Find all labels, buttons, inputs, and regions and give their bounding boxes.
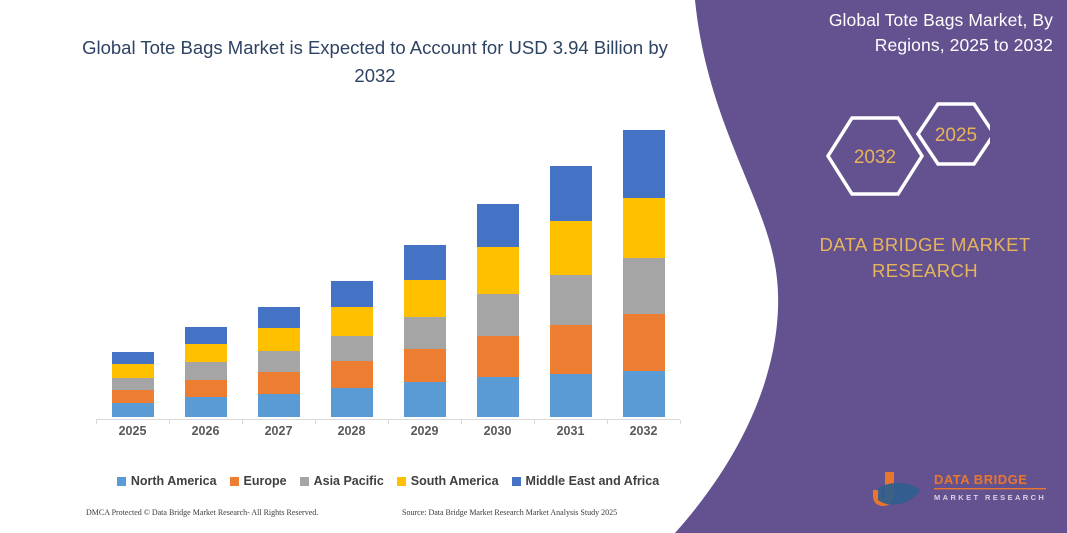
bar-segment [550, 275, 592, 325]
x-axis-labels: 20252026202720282029203020312032 [96, 424, 680, 444]
bar-segment [477, 294, 519, 336]
logo-text-top: DATA BRIDGE [934, 472, 1027, 487]
bar-segment [477, 336, 519, 377]
bar-2028 [331, 281, 373, 417]
bar-segment [477, 204, 519, 247]
legend-item-europe[interactable]: Europe [230, 474, 287, 488]
bar-segment [404, 382, 446, 417]
x-axis-label-2030: 2030 [468, 424, 528, 438]
hexagon-2025-label: 2025 [935, 125, 977, 146]
bar-segment [185, 362, 227, 380]
bar-segment [550, 374, 592, 417]
brand-line-2: RESEARCH [790, 258, 1060, 284]
data-bridge-logo: DATA BRIDGE MARKET RESEARCH [872, 466, 1052, 510]
logo-mark-blue [878, 483, 920, 505]
bar-segment [258, 351, 300, 372]
legend-label: Asia Pacific [314, 474, 384, 488]
bar-2029 [404, 245, 446, 417]
bar-segment [258, 394, 300, 417]
hexagon-badges: 2025 2032 [820, 98, 990, 208]
bar-segment [331, 281, 373, 307]
bar-segment [258, 307, 300, 328]
bar-2031 [550, 166, 592, 417]
bar-segment [404, 317, 446, 349]
bar-2030 [477, 204, 519, 417]
bar-segment [331, 336, 373, 361]
bar-segment [331, 361, 373, 388]
bar-segment [185, 380, 227, 397]
legend-item-south-america[interactable]: South America [397, 474, 499, 488]
x-axis-label-2028: 2028 [322, 424, 382, 438]
bar-segment [404, 245, 446, 280]
bar-segment [331, 307, 373, 336]
bar-segment [185, 397, 227, 417]
footer-copyright: DMCA Protected © Data Bridge Market Rese… [86, 508, 318, 517]
legend-swatch-icon [300, 477, 309, 486]
x-axis-label-2031: 2031 [541, 424, 601, 438]
brand-name: DATA BRIDGE MARKET RESEARCH [790, 232, 1060, 284]
page-title: Global Tote Bags Market is Expected to A… [70, 34, 680, 90]
bar-segment [550, 221, 592, 275]
bar-segment [550, 325, 592, 374]
bar-chart-plot [96, 120, 680, 420]
x-axis-label-2027: 2027 [249, 424, 309, 438]
bar-segment [404, 280, 446, 317]
footer: DMCA Protected © Data Bridge Market Rese… [0, 508, 694, 526]
bar-segment [112, 378, 154, 390]
legend-item-north-america[interactable]: North America [117, 474, 217, 488]
x-axis-label-2029: 2029 [395, 424, 455, 438]
bar-2025 [112, 352, 154, 417]
bar-segment [404, 349, 446, 382]
bar-segment [185, 344, 227, 362]
chart-legend: North AmericaEuropeAsia PacificSouth Ame… [96, 472, 680, 490]
bar-segment [258, 328, 300, 351]
bar-segment [477, 247, 519, 294]
footer-source: Source: Data Bridge Market Research Mark… [402, 508, 617, 517]
bar-2026 [185, 327, 227, 417]
bar-segment [112, 403, 154, 417]
infographic-canvas: Global Tote Bags Market is Expected to A… [0, 0, 1067, 533]
legend-swatch-icon [230, 477, 239, 486]
legend-label: North America [131, 474, 217, 488]
bar-segment [550, 166, 592, 221]
bar-segment [477, 377, 519, 417]
bar-segment [258, 372, 300, 394]
legend-item-asia-pacific[interactable]: Asia Pacific [300, 474, 384, 488]
hexagon-2032-label: 2032 [854, 147, 896, 168]
x-axis-label-2026: 2026 [176, 424, 236, 438]
bar-2027 [258, 307, 300, 417]
bar-segment [112, 390, 154, 403]
bar-segment [331, 388, 373, 417]
panel-title: Global Tote Bags Market, By Regions, 202… [757, 8, 1053, 58]
bar-segment [112, 352, 154, 364]
brand-line-1: DATA BRIDGE MARKET [790, 232, 1060, 258]
legend-label: Europe [244, 474, 287, 488]
legend-swatch-icon [397, 477, 406, 486]
legend-swatch-icon [512, 477, 521, 486]
bar-segment [112, 364, 154, 378]
legend-label: South America [411, 474, 499, 488]
legend-swatch-icon [117, 477, 126, 486]
logo-text-bottom: MARKET RESEARCH [934, 493, 1046, 502]
bar-series-container [96, 120, 680, 417]
logo-divider [934, 488, 1046, 489]
legend-item-middle-east-and-africa[interactable]: Middle East and Africa [512, 474, 660, 488]
bar-segment [185, 327, 227, 344]
x-axis-label-2025: 2025 [103, 424, 163, 438]
legend-label: Middle East and Africa [526, 474, 660, 488]
